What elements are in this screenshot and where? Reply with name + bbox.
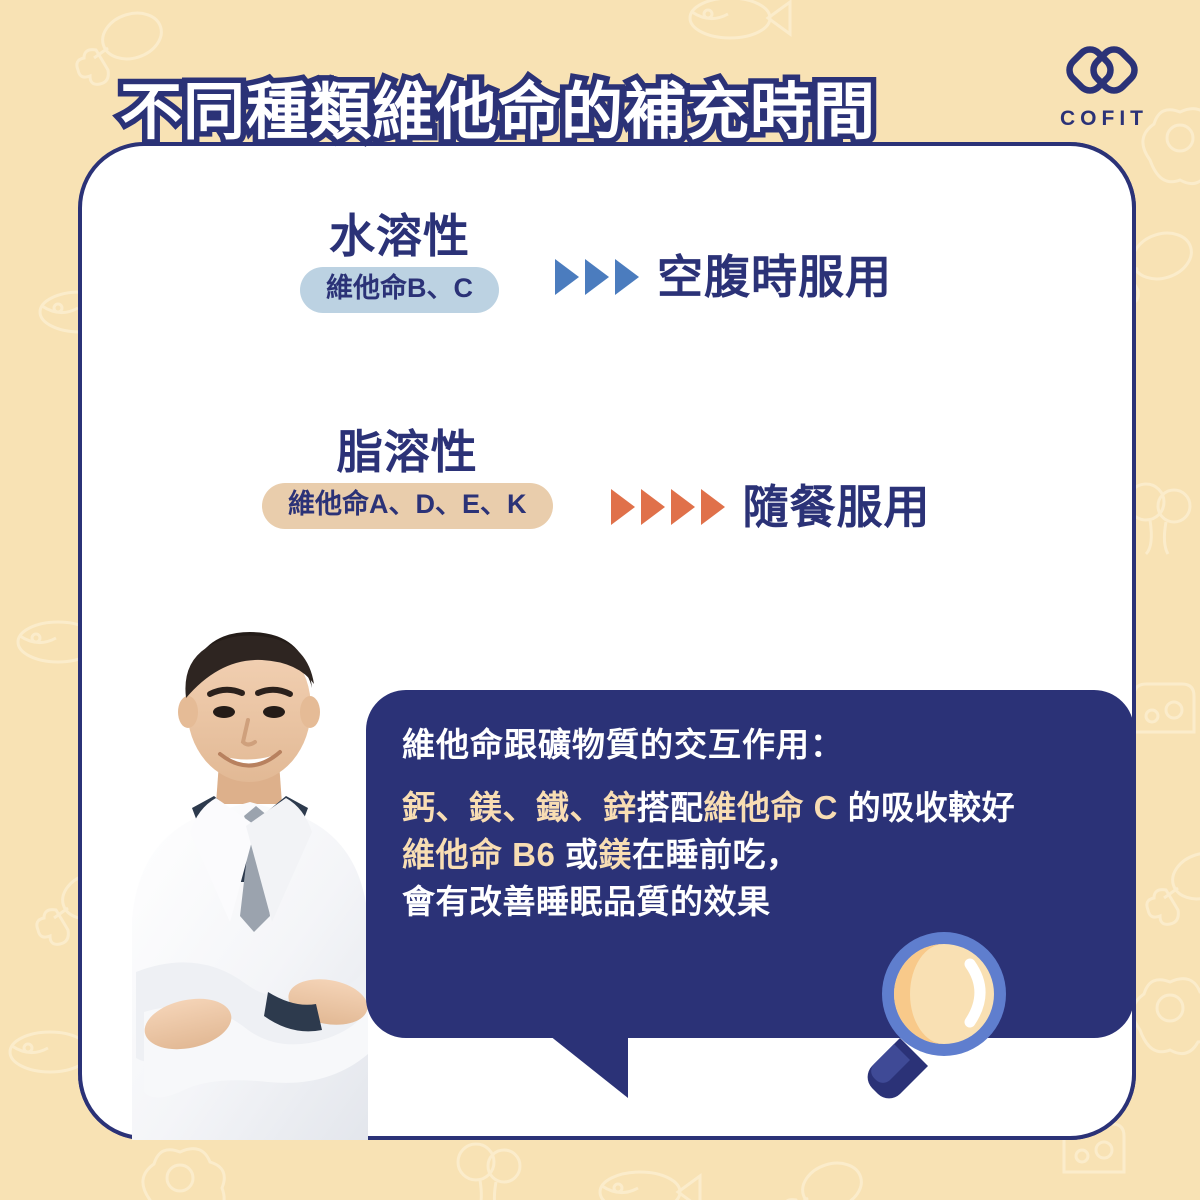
triangle-icon [555,259,579,295]
triangle-icon [641,489,665,525]
speech-bubble-tail [506,1020,628,1098]
cofit-logo: COFIT [1055,46,1148,129]
category-title-water: 水溶性 [329,212,470,260]
outcome-fat: 隨餐服用 [743,484,931,530]
triangle-icon [615,259,639,295]
cofit-interlocking-links-icon [1066,46,1138,104]
arrow-group-orange [611,489,725,525]
outcome-water: 空腹時服用 [657,254,892,300]
row-water-right: 空腹時服用 [555,254,892,300]
bubble-line-2: 維他命 B6 或鎂在睡前吃， [402,838,1122,871]
page-title: 不同種類維他命的補充時間 [120,82,876,144]
vitamin-pill-fat: 維他命A、D、E、K [262,483,553,529]
row-water-soluble: 水溶性 維他命B、C 空腹時服用 [300,212,892,313]
row-water-left: 水溶性 維他命B、C [300,212,499,313]
speech-bubble-content: 維他命跟礦物質的交互作用： 鈣、鎂、鐵、鋅搭配維他命 C 的吸收較好 維他命 B… [402,728,1122,932]
logo-wordmark: COFIT [1060,108,1148,129]
magnifying-glass-icon [838,912,1028,1102]
category-title-fat: 脂溶性 [337,428,478,476]
triangle-icon [611,489,635,525]
triangle-icon [585,259,609,295]
bubble-body: 鈣、鎂、鐵、鋅搭配維他命 C 的吸收較好 維他命 B6 或鎂在睡前吃， 會有改善… [402,791,1122,918]
row-fat-soluble: 脂溶性 維他命A、D、E、K 隨餐服用 [262,428,931,530]
arrow-group-blue [555,259,639,295]
vitamin-pill-water: 維他命B、C [300,267,499,313]
triangle-icon [701,489,725,525]
row-fat-right: 隨餐服用 [611,484,931,530]
triangle-icon [671,489,695,525]
bubble-line-1: 鈣、鎂、鐵、鋅搭配維他命 C 的吸收較好 [402,791,1122,824]
bubble-lead: 維他命跟礦物質的交互作用： [402,728,1122,761]
row-fat-left: 脂溶性 維他命A、D、E、K [262,428,553,529]
